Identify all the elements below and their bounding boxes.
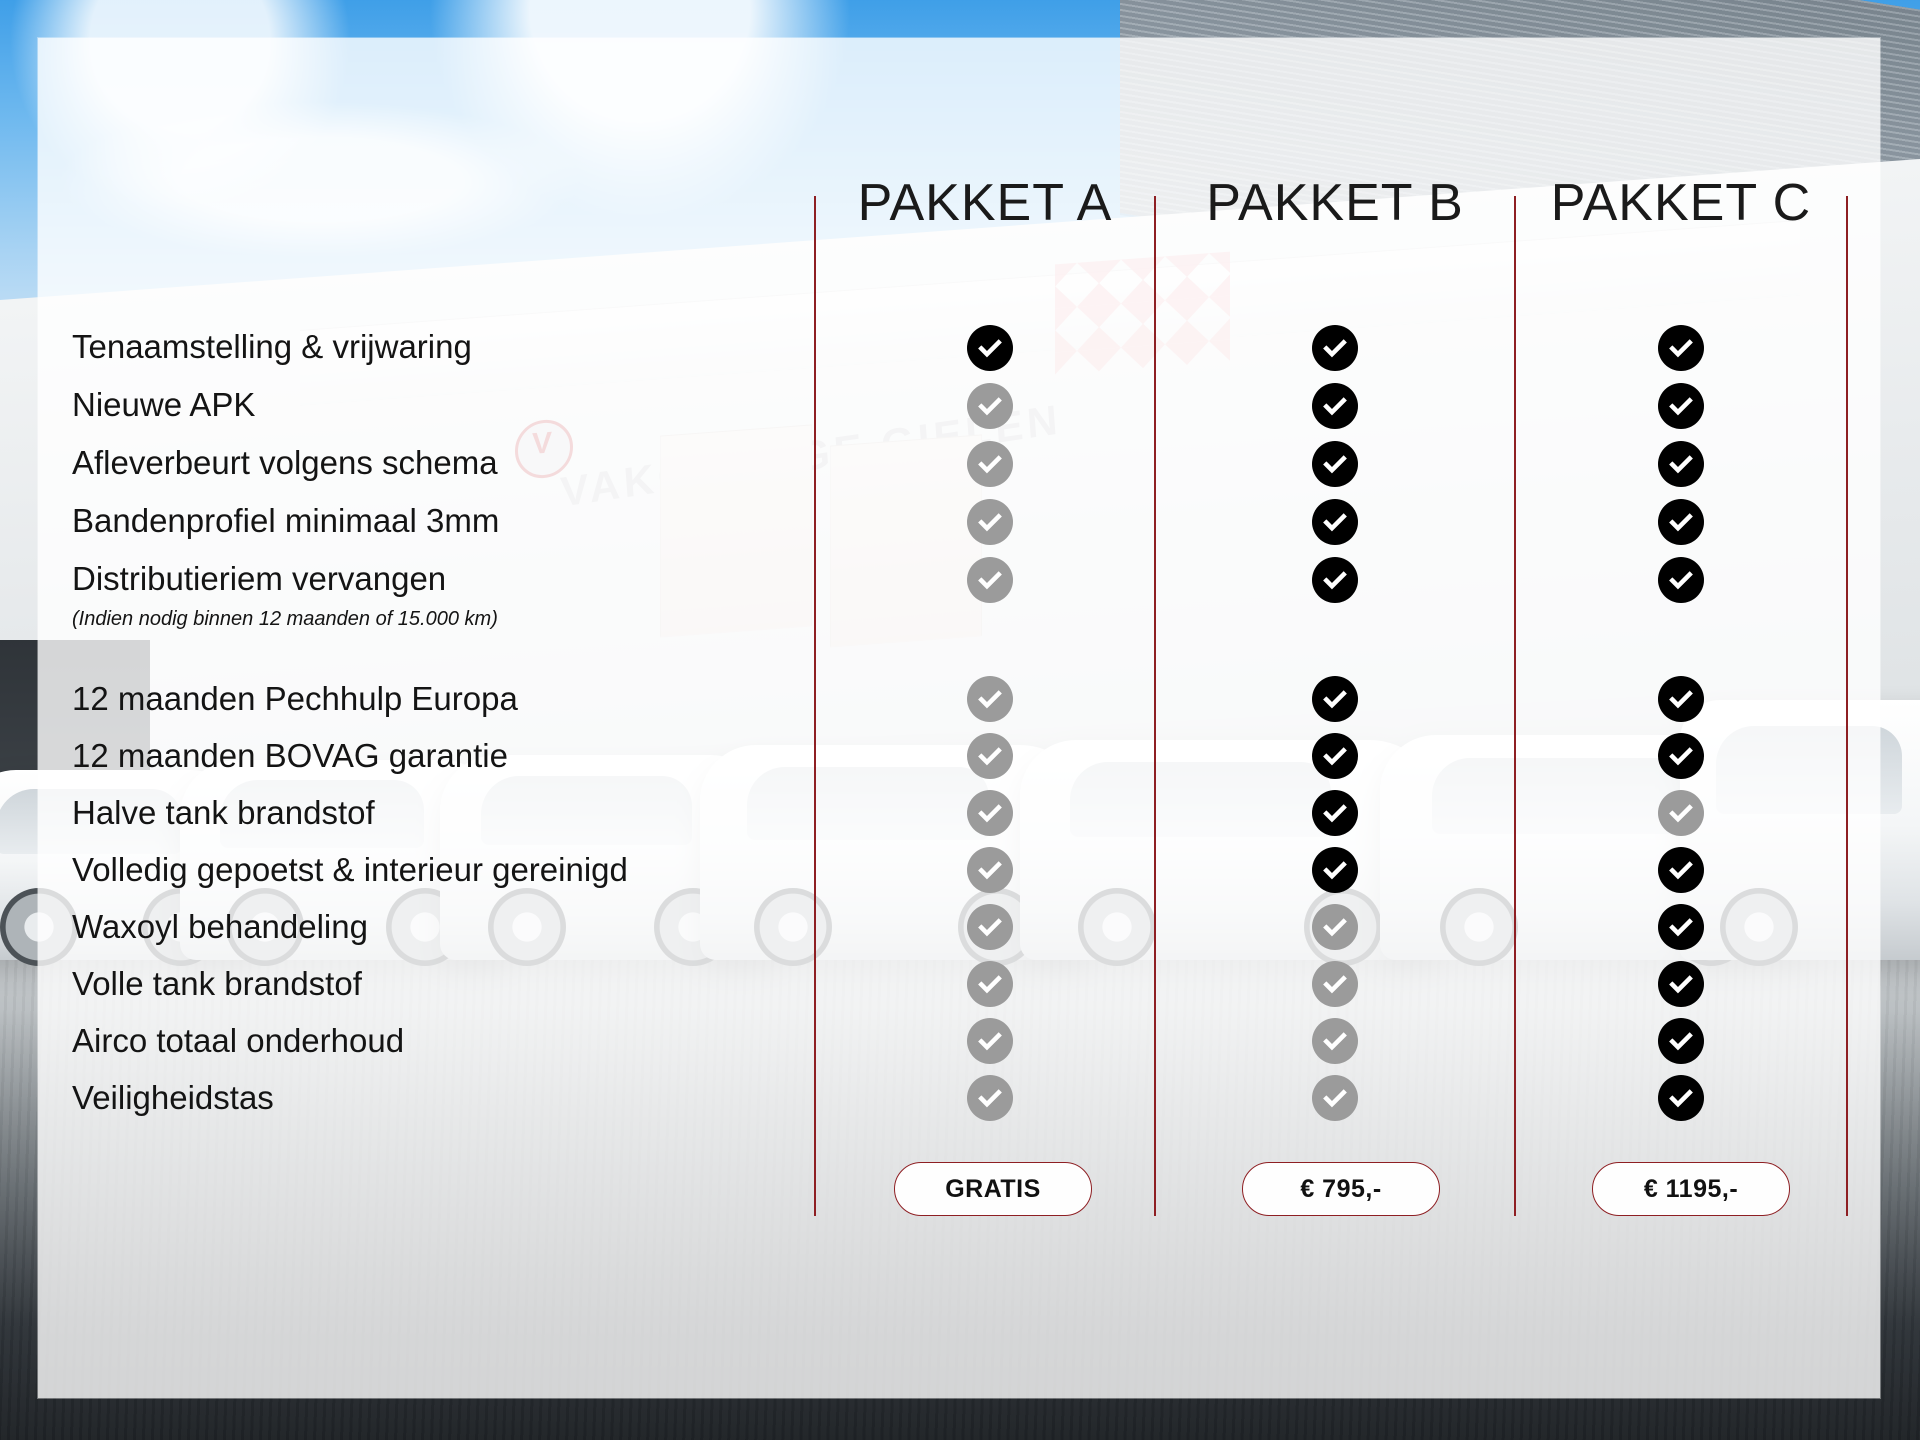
check-icon [1312,557,1358,603]
check-icon [967,961,1013,1007]
feature-label: Afleverbeurt volgens schema [72,444,498,482]
check-icon [967,441,1013,487]
check-icon [1312,904,1358,950]
feature-label: 12 maanden BOVAG garantie [72,737,508,775]
check-icon [967,904,1013,950]
check-icon [1312,1018,1358,1064]
check-icon [1658,733,1704,779]
column-divider-2 [1154,196,1156,1216]
feature-label: Nieuwe APK [72,386,255,424]
check-icon [1658,904,1704,950]
price-button-c[interactable]: € 1195,- [1592,1162,1790,1216]
package-header-c: PAKKET C [1516,170,1846,236]
check-icon [967,325,1013,371]
check-icon [1658,961,1704,1007]
check-icon [967,499,1013,545]
column-divider-3 [1514,196,1516,1216]
check-icon [1658,325,1704,371]
check-icon [1312,325,1358,371]
check-icon [967,790,1013,836]
check-icon [1658,499,1704,545]
feature-label: Bandenprofiel minimaal 3mm [72,502,499,540]
price-button-b[interactable]: € 795,- [1242,1162,1440,1216]
comparison-table: PAKKET A PAKKET B PAKKET C Tenaamstellin… [0,0,1920,1440]
package-header-b: PAKKET B [1156,170,1514,236]
check-icon [967,1075,1013,1121]
check-icon [967,383,1013,429]
feature-label: Waxoyl behandeling [72,908,368,946]
check-icon [1312,383,1358,429]
feature-label: Veiligheidstas [72,1079,274,1117]
check-icon [1658,847,1704,893]
check-icon [1312,847,1358,893]
feature-label: Distributieriem vervangen [72,560,446,598]
check-icon [967,733,1013,779]
column-divider-1 [814,196,816,1216]
feature-label: Airco totaal onderhoud [72,1022,404,1060]
check-icon [967,557,1013,603]
check-icon [967,1018,1013,1064]
column-divider-4 [1846,196,1848,1216]
feature-label: Halve tank brandstof [72,794,375,832]
check-icon [1312,441,1358,487]
check-icon [1658,790,1704,836]
check-icon [1658,1018,1704,1064]
check-icon [1312,790,1358,836]
check-icon [1312,499,1358,545]
check-icon [1312,961,1358,1007]
feature-note: (Indien nodig binnen 12 maanden of 15.00… [72,608,498,631]
check-icon [1658,383,1704,429]
check-icon [1312,1075,1358,1121]
check-icon [1658,557,1704,603]
pricing-comparison-screen: VAKGARAGE GIELEN PAKKET A PAKKET B PAKKE… [0,0,1920,1440]
feature-label: Volle tank brandstof [72,965,362,1003]
check-icon [1658,441,1704,487]
check-icon [1658,676,1704,722]
check-icon [1658,1075,1704,1121]
check-icon [967,847,1013,893]
feature-label: Volledig gepoetst & interieur gereinigd [72,851,628,889]
check-icon [967,676,1013,722]
check-icon [1312,676,1358,722]
price-button-a[interactable]: GRATIS [894,1162,1092,1216]
feature-label: 12 maanden Pechhulp Europa [72,680,518,718]
package-header-a: PAKKET A [816,170,1154,236]
check-icon [1312,733,1358,779]
feature-label: Tenaamstelling & vrijwaring [72,328,472,366]
